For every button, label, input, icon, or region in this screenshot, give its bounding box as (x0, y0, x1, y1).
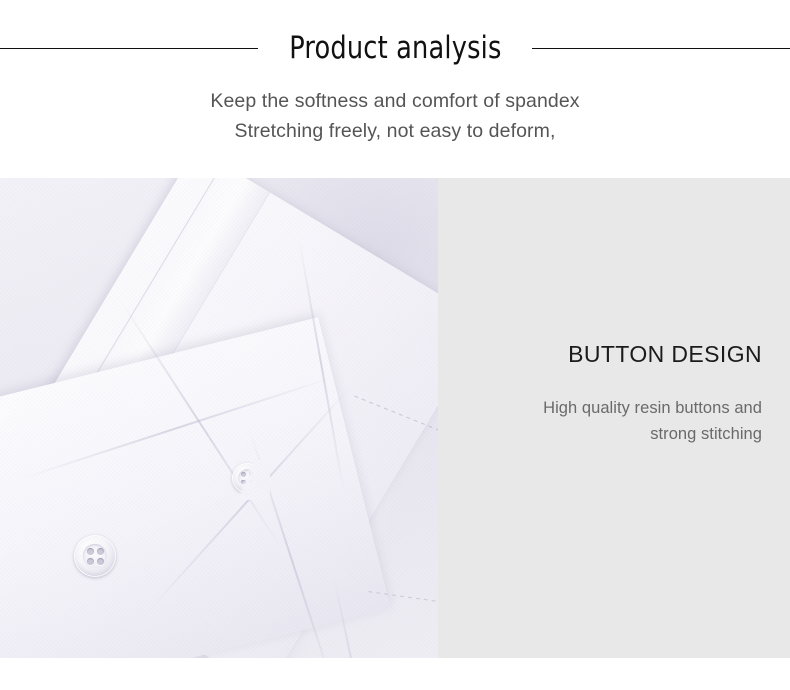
content-band: BUTTON DESIGN High quality resin buttons… (0, 178, 790, 658)
info-body: High quality resin buttons and strong st… (472, 395, 762, 447)
product-photo (0, 178, 438, 658)
page-title: Product analysis (269, 29, 522, 67)
header-section: Product analysis Keep the softness and c… (0, 0, 790, 178)
subtitle-line-1: Keep the softness and comfort of spandex (0, 86, 790, 116)
info-panel-content: BUTTON DESIGN High quality resin buttons… (472, 340, 762, 447)
title-rule-left (0, 48, 258, 49)
subtitle-line-2: Stretching freely, not easy to deform, (0, 116, 790, 146)
title-row: Product analysis (0, 27, 790, 69)
info-body-line-2: strong stitching (472, 421, 762, 447)
info-heading: BUTTON DESIGN (472, 340, 762, 368)
fabric-weave-texture (0, 178, 438, 658)
info-panel: BUTTON DESIGN High quality resin buttons… (438, 178, 790, 658)
title-rule-right (532, 48, 790, 49)
info-body-line-1: High quality resin buttons and (472, 395, 762, 421)
subtitle-block: Keep the softness and comfort of spandex… (0, 86, 790, 146)
product-analysis-page: Product analysis Keep the softness and c… (0, 0, 790, 690)
